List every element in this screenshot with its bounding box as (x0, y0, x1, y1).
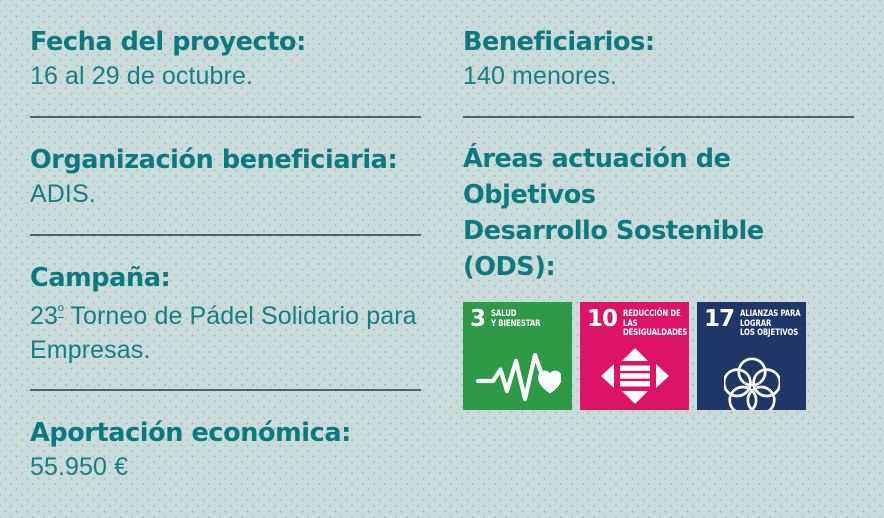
block-beneficiarios: Beneficiarios: 140 menores. (463, 0, 855, 93)
heartbeat-heart-icon (463, 347, 572, 405)
beneficiarios-value: 140 menores. (463, 59, 855, 93)
beneficiarios-heading: Beneficiarios: (463, 26, 855, 59)
interlocking-circles-icon (697, 358, 806, 408)
sdg-10-label: Reducción de las desigualdades (623, 309, 687, 338)
sdg-17-number: 17 (704, 309, 734, 329)
block-aportacion-economica: Aportación económica: 55.950 € (30, 391, 422, 484)
aportacion-economica-heading: Aportación económica: (30, 417, 422, 450)
sdg-3-label: Salud y bienestar (491, 309, 540, 328)
block-organizacion-beneficiaria: Organización beneficiaria: ADIS. (30, 118, 422, 211)
sdg-tile-17[interactable]: 17 Alianzas para lograr los objetivos (697, 302, 806, 410)
ods-heading: Áreas actuación de Objetivos Desarrollo … (463, 141, 855, 285)
sdg-10-head: 10 Reducción de las desigualdades (580, 302, 689, 338)
organizacion-beneficiaria-value: ADIS. (30, 177, 422, 211)
sdg-tile-3[interactable]: 3 Salud y bienestar (463, 302, 572, 410)
fecha-del-proyecto-heading: Fecha del proyecto: (30, 26, 422, 59)
campana-value: 23º Torneo de Pádel Solidario para Empre… (30, 295, 422, 367)
campana-value-number: 23 (30, 302, 58, 330)
sdg-3-number: 3 (470, 309, 485, 329)
campana-heading: Campaña: (30, 262, 422, 295)
campana-value-text: Torneo de Pádel Solidario para Empresas. (30, 302, 417, 364)
project-fact-sheet: Fecha del proyecto: 16 al 29 de octubre.… (0, 0, 884, 518)
block-ods: Áreas actuación de Objetivos Desarrollo … (463, 118, 855, 285)
left-column: Fecha del proyecto: 16 al 29 de octubre.… (30, 0, 422, 484)
block-campana: Campaña: 23º Torneo de Pádel Solidario p… (30, 236, 422, 367)
block-fecha-del-proyecto: Fecha del proyecto: 16 al 29 de octubre. (30, 0, 422, 93)
sdg-goals-row: 3 Salud y bienestar 10 Reducción de las … (463, 302, 855, 410)
sdg-10-number: 10 (587, 309, 617, 329)
equality-arrows-icon (580, 347, 689, 405)
organizacion-beneficiaria-heading: Organización beneficiaria: (30, 144, 422, 177)
aportacion-economica-value: 55.950 € (30, 450, 422, 484)
sdg-tile-10[interactable]: 10 Reducción de las desigualdades (580, 302, 689, 410)
sdg-17-head: 17 Alianzas para lograr los objetivos (697, 302, 806, 338)
sdg-3-head: 3 Salud y bienestar (463, 302, 572, 329)
sdg-17-label: Alianzas para lograr los objetivos (740, 309, 801, 338)
fecha-del-proyecto-value: 16 al 29 de octubre. (30, 59, 422, 93)
right-column: Beneficiarios: 140 menores. Áreas actuac… (463, 0, 855, 410)
